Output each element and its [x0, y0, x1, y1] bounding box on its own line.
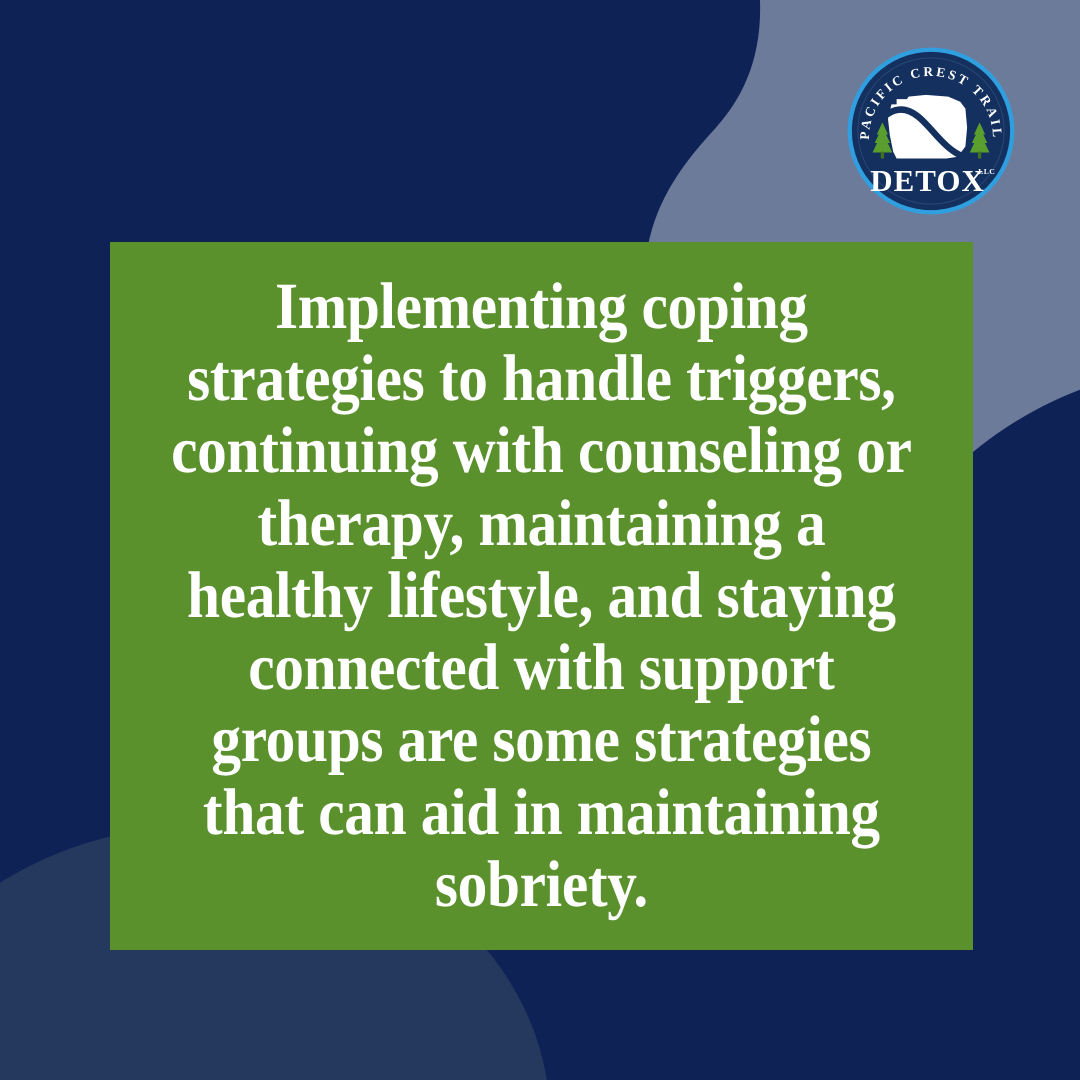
quote-panel: Implementing coping strategies to handle…: [110, 242, 973, 950]
oregon-state-icon: [888, 95, 967, 159]
logo-llc-suffix: LLC: [978, 167, 995, 176]
logo-wordmark: DETOX: [870, 163, 985, 198]
quote-text: Implementing coping strategies to handle…: [171, 271, 911, 921]
logo-badge[interactable]: PACIFIC CREST TRAIL: [845, 45, 1017, 217]
social-post-canvas: Implementing coping strategies to handle…: [0, 0, 1080, 1080]
